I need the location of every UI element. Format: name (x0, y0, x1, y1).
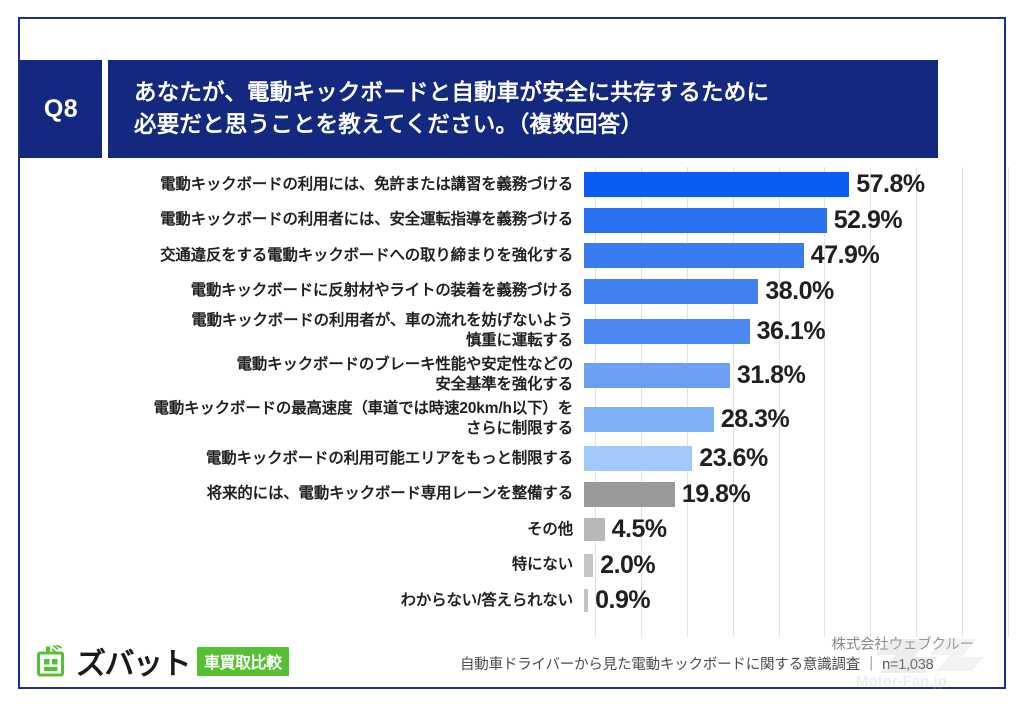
chart-row: 電動キックボードのブレーキ性能や安定性などの 安全基準を強化する31.8% (20, 353, 1008, 397)
chart-row: 電動キックボードの最高速度（車道では時速20km/h以下）を さらに制限する28… (20, 397, 1008, 441)
chart-row-label: 将来的には、電動キックボード専用レーンを整備する (20, 484, 584, 504)
zubatto-logo-text: ズバット (76, 639, 190, 683)
chart-row: 電動キックボードの利用者が、車の流れを妨げないよう 慎重に運転する36.1% (20, 309, 1008, 353)
bar-chart: 電動キックボードの利用には、免許または講習を義務づける57.8%電動キックボード… (20, 167, 1008, 637)
question-line-2: 必要だと思うことを教えてください。（複数回答） (134, 109, 938, 141)
chart-row: わからない/答えられない0.9% (20, 583, 1008, 619)
chart-row-bar-area: 23.6% (584, 441, 1008, 477)
chart-bar (584, 407, 714, 432)
chart-bar (584, 243, 804, 268)
chart-row-label: 電動キックボードに反射材やライトの装着を義務づける (20, 281, 584, 301)
chart-row-bar-area: 4.5% (584, 512, 1008, 548)
chart-row: 電動キックボードの利用者には、安全運転指導を義務づける52.9% (20, 203, 1008, 239)
chart-bar (584, 319, 750, 344)
chart-row: 交通違反をする電動キックボードへの取り締まりを強化する47.9% (20, 238, 1008, 274)
chart-bar (584, 518, 605, 541)
zubatto-logo-tagline: 車買取比較 (197, 647, 289, 676)
slide-footer: ズバット 車買取比較 自動車ドライバーから見た電動キックボードに関する意識調査 … (20, 631, 1008, 687)
chart-bar-value: 38.0% (765, 277, 833, 306)
slide-frame: Q8 あなたが、電動キックボードと自動車が安全に共存するために 必要だと思うこと… (18, 17, 1006, 689)
chart-row-label: 交通違反をする電動キックボードへの取り締まりを強化する (20, 246, 584, 266)
chart-row-bar-area: 28.3% (584, 397, 1008, 441)
chart-row-label: その他 (20, 520, 584, 540)
chart-bar (584, 589, 588, 612)
chart-row-label: 電動キックボードの最高速度（車道では時速20km/h以下）を さらに制限する (20, 399, 584, 440)
chart-row-label: 電動キックボードの利用可能エリアをもっと制限する (20, 449, 584, 469)
chart-row: 電動キックボードの利用には、免許または講習を義務づける57.8% (20, 167, 1008, 203)
chart-row-label: 特にない (20, 555, 584, 575)
chart-bar-value: 52.9% (834, 206, 902, 235)
chart-bar-value: 36.1% (757, 317, 825, 346)
question-header: Q8 あなたが、電動キックボードと自動車が安全に共存するために 必要だと思うこと… (20, 60, 938, 158)
motor-fan-watermark-text: Motor-Fan.jp (856, 673, 947, 690)
chart-bar-value: 2.0% (600, 551, 655, 580)
chart-bar (584, 482, 675, 507)
chart-row-bar-area: 0.9% (584, 583, 1008, 619)
chart-bar (584, 554, 593, 577)
chart-row-bar-area: 36.1% (584, 309, 1008, 353)
company-name: 株式会社ウェブクルー (831, 633, 974, 654)
gridline (1008, 167, 1009, 637)
question-number-badge: Q8 (20, 60, 102, 158)
survey-source-note: 自動車ドライバーから見た電動キックボードに関する意識調査 ｜ n=1,038 (460, 653, 933, 674)
chart-row-bar-area: 52.9% (584, 203, 1008, 239)
question-title: あなたが、電動キックボードと自動車が安全に共存するために 必要だと思うことを教え… (108, 60, 938, 158)
chart-bar-value: 23.6% (699, 444, 767, 473)
chart-row-bar-area: 47.9% (584, 238, 1008, 274)
chart-bar-value: 0.9% (595, 586, 650, 615)
chart-bar-value: 4.5% (612, 515, 667, 544)
chart-row: 電動キックボードに反射材やライトの装着を義務づける38.0% (20, 274, 1008, 310)
chart-row-bar-area: 57.8% (584, 167, 1008, 203)
chart-row-bar-area: 19.8% (584, 477, 1008, 513)
zubatto-logo: ズバット 車買取比較 (37, 639, 289, 683)
chart-bar (584, 363, 730, 388)
chart-row: 電動キックボードの利用可能エリアをもっと制限する23.6% (20, 441, 1008, 477)
chart-row-label: 電動キックボードのブレーキ性能や安定性などの 安全基準を強化する (20, 355, 584, 396)
chart-row: 特にない2.0% (20, 548, 1008, 584)
chart-row-bar-area: 31.8% (584, 353, 1008, 397)
chart-bar-value: 19.8% (682, 480, 750, 509)
chart-bar (584, 208, 827, 233)
chart-bar (584, 446, 692, 471)
chart-row-bar-area: 2.0% (584, 548, 1008, 584)
chart-row-bar-area: 38.0% (584, 274, 1008, 310)
chart-row: 将来的には、電動キックボード専用レーンを整備する19.8% (20, 477, 1008, 513)
chart-bar-value: 28.3% (721, 405, 789, 434)
chart-bar (584, 172, 849, 197)
chart-row-label: 電動キックボードの利用者には、安全運転指導を義務づける (20, 210, 584, 230)
question-line-1: あなたが、電動キックボードと自動車が安全に共存するために (134, 77, 938, 109)
zubatto-logo-icon (37, 645, 71, 677)
chart-bar (584, 279, 758, 304)
chart-row: その他4.5% (20, 512, 1008, 548)
chart-bar-value: 31.8% (737, 361, 805, 390)
chart-bar-value: 47.9% (811, 241, 879, 270)
chart-row-label: 電動キックボードの利用には、免許または講習を義務づける (20, 175, 584, 195)
chart-row-label: 電動キックボードの利用者が、車の流れを妨げないよう 慎重に運転する (20, 311, 584, 352)
chart-bar-value: 57.8% (856, 170, 924, 199)
chart-row-label: わからない/答えられない (20, 591, 584, 611)
